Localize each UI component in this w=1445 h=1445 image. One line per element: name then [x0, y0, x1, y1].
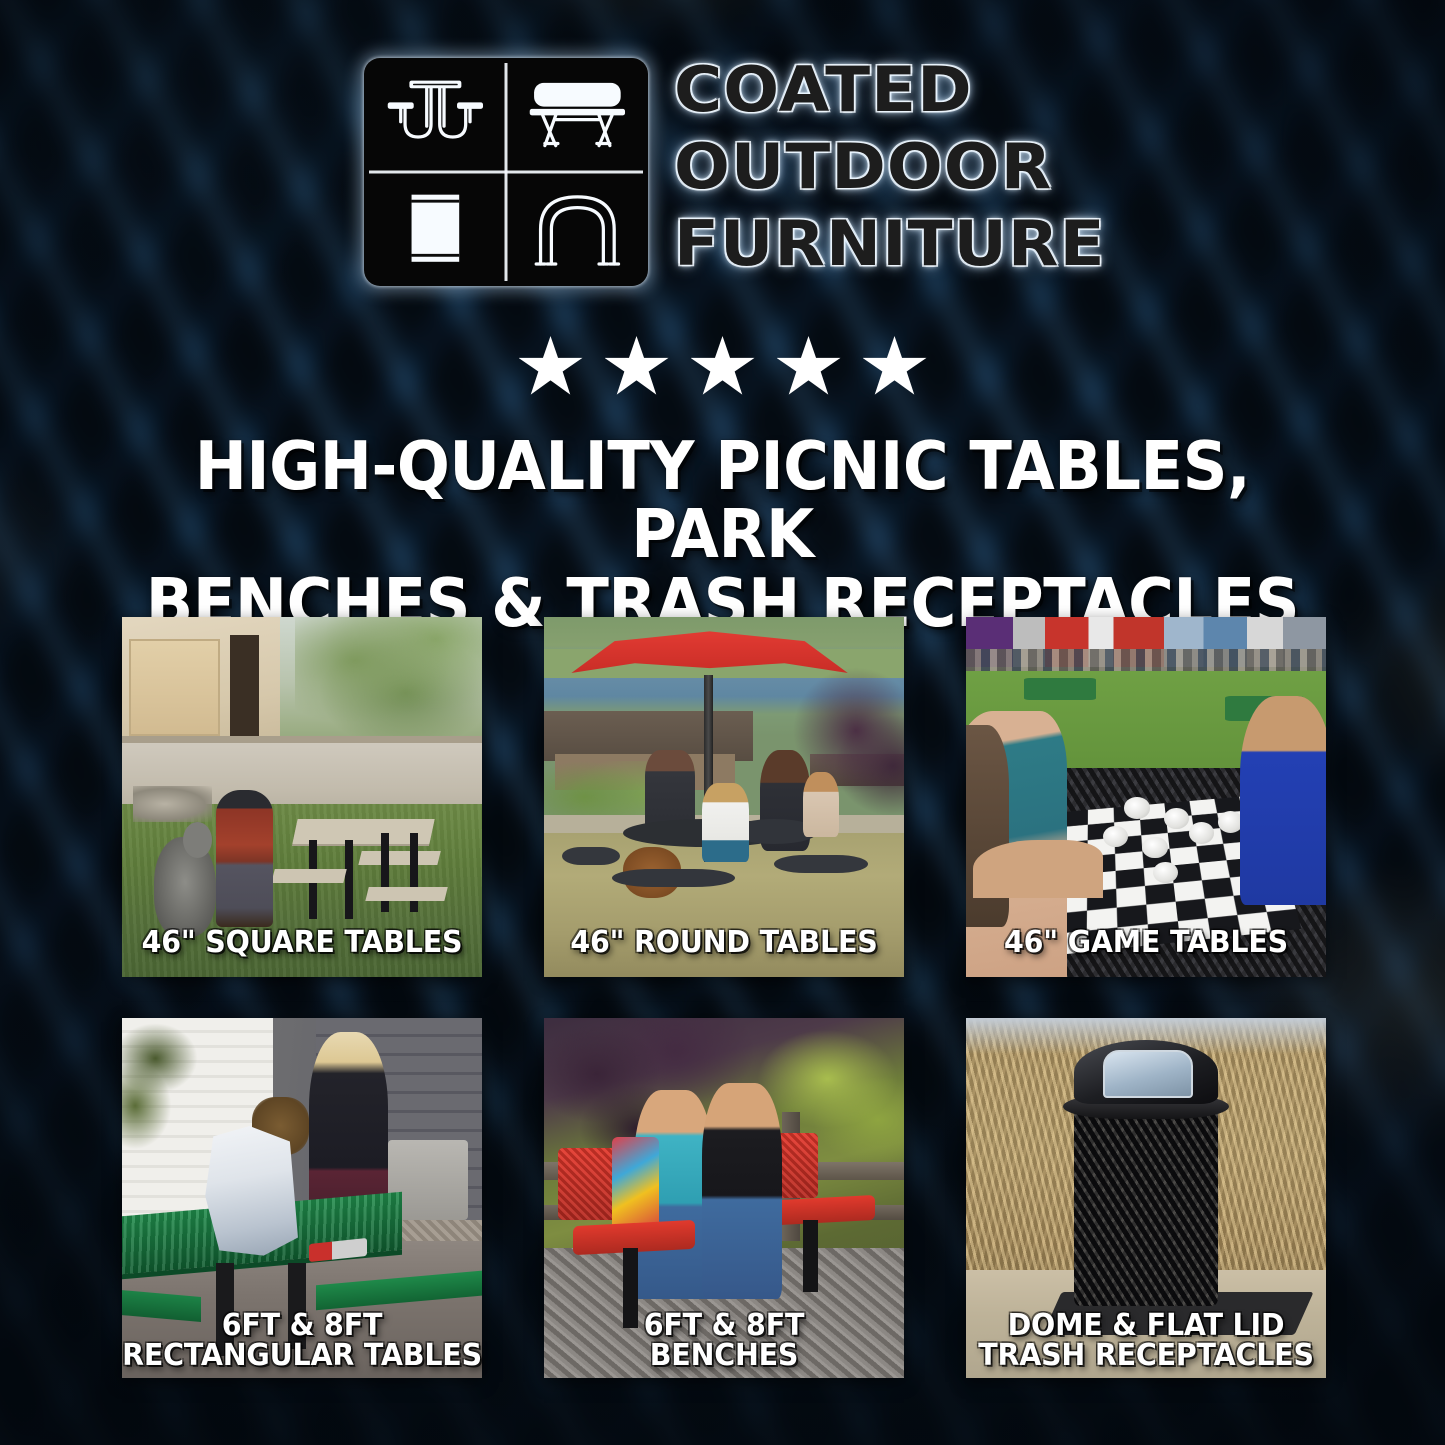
- product-grid: 46" SQUARE TABLES: [122, 617, 1325, 1378]
- caption-line: 6FT & 8FT: [540, 1311, 909, 1342]
- poster-content: COATED OUTDOOR FURNITURE HIGH-QUALITY PI…: [0, 0, 1445, 1445]
- product-caption-benches: 6FT & 8FT BENCHES: [540, 1311, 909, 1372]
- product-caption-round-tables: 46" ROUND TABLES: [540, 928, 909, 959]
- caption-line: RECTANGULAR TABLES: [118, 1341, 487, 1372]
- product-caption-square-tables: 46" SQUARE TABLES: [118, 928, 487, 959]
- product-photo-game-tables: [966, 617, 1326, 977]
- caption-line: 6FT & 8FT: [118, 1311, 487, 1342]
- caption-line: 46" ROUND TABLES: [540, 928, 909, 959]
- picnic-table-icon: [364, 58, 506, 172]
- bench-icon: [506, 58, 648, 172]
- brand-wordmark-line-3: FURNITURE: [674, 214, 1106, 275]
- product-tile-benches[interactable]: 6FT & 8FT BENCHES: [544, 1018, 904, 1378]
- promotional-poster: COATED OUTDOOR FURNITURE HIGH-QUALITY PI…: [0, 0, 1445, 1445]
- product-tile-round-tables[interactable]: 46" ROUND TABLES: [544, 617, 904, 977]
- product-caption-game-tables: 46" GAME TABLES: [962, 928, 1331, 959]
- product-photo-square-tables: [122, 617, 482, 977]
- product-caption-rectangular-tables: 6FT & 8FT RECTANGULAR TABLES: [118, 1311, 487, 1372]
- brand-wordmark-line-1: COATED: [674, 60, 1106, 121]
- brand-logo: COATED OUTDOOR FURNITURE: [0, 58, 1445, 286]
- star-icon: [605, 336, 669, 398]
- product-tile-trash-receptacles[interactable]: DOME & FLAT LID TRASH RECEPTACLES: [966, 1018, 1326, 1378]
- logo-mark-icon-grid: [364, 58, 648, 286]
- bike-rack-arch-icon: [506, 172, 648, 286]
- logo-grid-divider-horizontal: [369, 171, 643, 174]
- star-rating: [0, 336, 1445, 398]
- product-photo-round-tables: [544, 617, 904, 977]
- trash-receptacle-icon: [364, 172, 506, 286]
- caption-line: BENCHES: [540, 1341, 909, 1372]
- product-tile-square-tables[interactable]: 46" SQUARE TABLES: [122, 617, 482, 977]
- brand-wordmark: COATED OUTDOOR FURNITURE: [674, 58, 1081, 274]
- headline: HIGH-QUALITY PICNIC TABLES, PARK BENCHES…: [106, 432, 1338, 637]
- star-icon: [863, 336, 927, 398]
- headline-line-1: HIGH-QUALITY PICNIC TABLES, PARK: [106, 432, 1338, 569]
- caption-line: 46" SQUARE TABLES: [118, 928, 487, 959]
- caption-line: 46" GAME TABLES: [962, 928, 1331, 959]
- product-caption-trash-receptacles: DOME & FLAT LID TRASH RECEPTACLES: [962, 1311, 1331, 1372]
- caption-line: TRASH RECEPTACLES: [962, 1341, 1331, 1372]
- product-tile-rectangular-tables[interactable]: 6FT & 8FT RECTANGULAR TABLES: [122, 1018, 482, 1378]
- brand-wordmark-line-2: OUTDOOR: [674, 137, 1106, 198]
- product-tile-game-tables[interactable]: 46" GAME TABLES: [966, 617, 1326, 977]
- star-icon: [691, 336, 755, 398]
- star-icon: [519, 336, 583, 398]
- caption-line: DOME & FLAT LID: [962, 1311, 1331, 1342]
- star-icon: [777, 336, 841, 398]
